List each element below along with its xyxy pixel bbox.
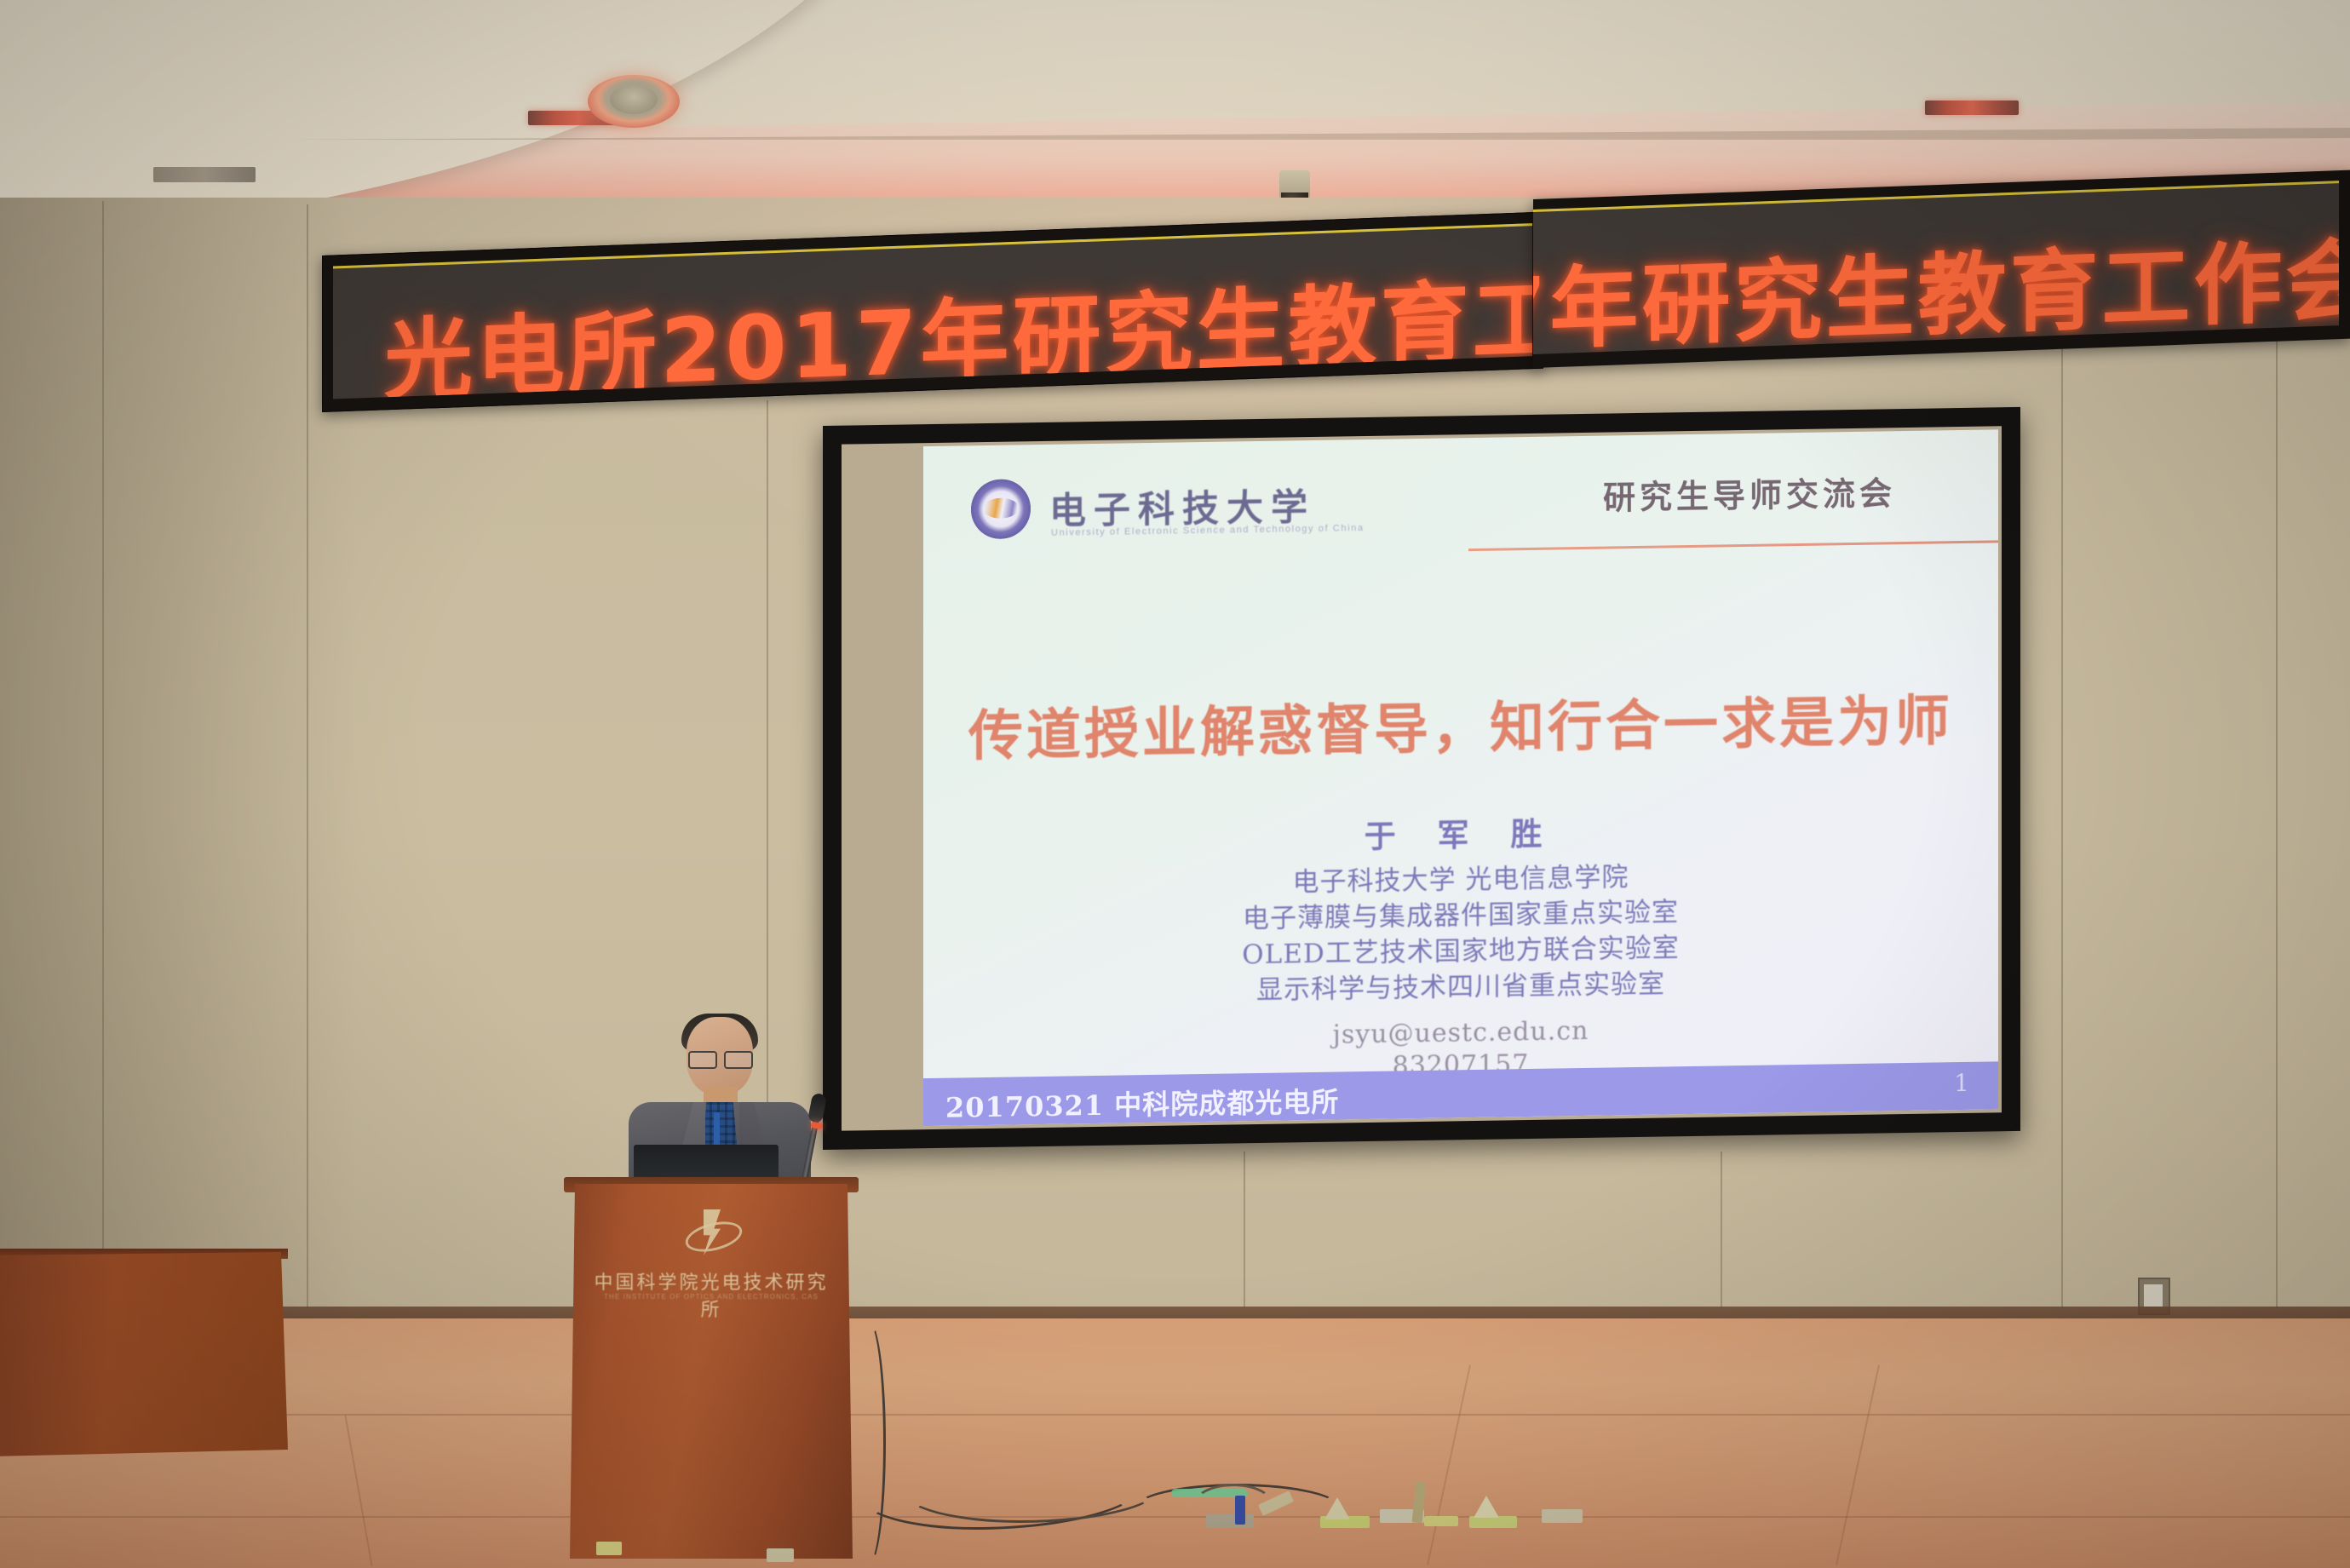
floor-power-strip <box>1206 1514 1254 1528</box>
wall-panel-seam <box>2061 324 2063 1308</box>
slide-affiliations: 电子科技大学 光电信息学院 电子薄膜与集成器件国家重点实验室 OLED工艺技术国… <box>923 853 1998 1014</box>
ceiling-light-strip <box>1925 101 2019 115</box>
podium-organization-en: THE INSTITUTE OF OPTICS AND ELECTRONICS,… <box>588 1293 835 1301</box>
uestc-logo-icon <box>971 479 1031 539</box>
led-display-surface: 光电所2017年研究生教育工作会暨导师培训 <box>333 223 1532 399</box>
floor-object <box>1469 1516 1517 1528</box>
led-display-surface: 光电所2017年研究生教育工作会暨导师培训 <box>1533 181 2339 354</box>
led-banner-text: 光电所2017年研究生教育工作会暨导师培训 <box>384 224 1532 399</box>
side-table <box>0 1252 290 1456</box>
ceiling-vent-grille <box>153 167 256 182</box>
slide-footer-text: 20170321 中科院成都光电所 <box>945 1080 1339 1125</box>
led-banner-text-continued: 光电所2017年研究生教育工作会暨导师培训 <box>1533 191 2339 354</box>
slide-page-number: 1 <box>1954 1069 1969 1097</box>
conference-hall-photo: 光电所2017年研究生教育工作会暨导师培训 光电所2017年研究生教育工作会暨导… <box>0 0 2350 1568</box>
cas-ioe-logo-icon <box>685 1208 738 1261</box>
presentation-slide: 电子科技大学 University of Electronic Science … <box>923 429 1998 1126</box>
downlight-lamp <box>610 85 658 114</box>
wall-shadow <box>0 198 358 1330</box>
projection-screen-frame: 电子科技大学 University of Electronic Science … <box>823 407 2020 1150</box>
floor-object <box>1424 1516 1458 1526</box>
glasses-icon <box>688 1051 753 1066</box>
slide-title: 传道授业解惑督导，知行合一求是为师 <box>923 676 1998 772</box>
recessed-downlight <box>588 75 680 128</box>
podium-cable <box>852 1320 886 1565</box>
led-banner-right-segment: 光电所2017年研究生教育工作会暨导师培训 <box>1533 170 2350 368</box>
wall-panel-seam <box>1244 1152 1245 1308</box>
floor-object <box>1542 1509 1583 1523</box>
slide-header-rule <box>1468 540 1998 551</box>
slide-author-name: 于 军 胜 <box>923 801 1998 864</box>
floor-object <box>767 1548 794 1562</box>
floor-object <box>596 1542 622 1555</box>
slide-header: 电子科技大学 University of Electronic Science … <box>923 429 1998 549</box>
projection-screen-surface: 电子科技大学 University of Electronic Science … <box>842 426 2002 1130</box>
wall-panel-seam <box>2276 307 2278 1308</box>
slide-session-title: 研究生导师交流会 <box>1603 467 1896 518</box>
wall-panel-seam <box>102 201 104 1308</box>
floor-tile-line <box>0 1414 2350 1416</box>
floor-plug <box>1235 1496 1245 1525</box>
wall-panel-seam <box>1721 1152 1722 1308</box>
wall-panel-seam <box>307 204 308 1308</box>
